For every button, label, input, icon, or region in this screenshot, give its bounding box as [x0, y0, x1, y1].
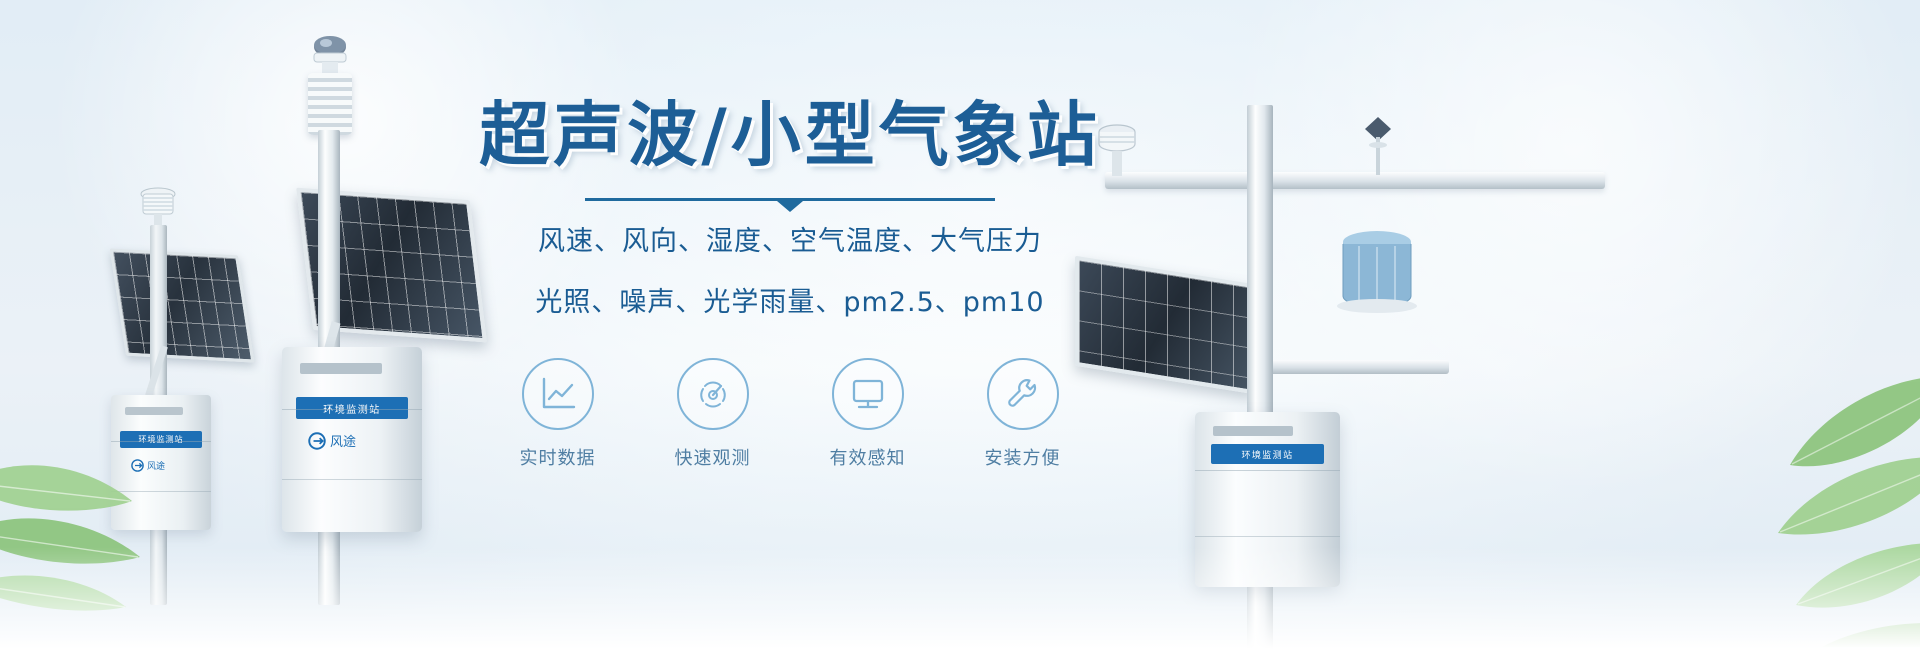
brand-logo: 风途 — [308, 431, 356, 450]
line-chart-icon — [522, 358, 594, 430]
cabinet-seam-lower — [282, 479, 422, 480]
cabinet-name-plate: 环境监测站 — [296, 397, 408, 419]
multi-sensor-head-icon — [131, 185, 185, 229]
feature-item-fast-observation[interactable]: 快速观测 — [655, 358, 770, 470]
weather-station-right: 环境监测站 — [1075, 60, 1635, 660]
palm-leaf-decoration-right — [1640, 347, 1920, 647]
feature-label: 实时数据 — [500, 444, 615, 470]
brand-name: 风途 — [330, 431, 356, 450]
wrench-icon — [987, 358, 1059, 430]
divider-triangle-icon — [777, 201, 803, 212]
cabinet-vent — [300, 363, 382, 374]
radiation-shield — [308, 73, 352, 135]
lower-cross-arm — [1253, 360, 1449, 374]
feature-label: 有效感知 — [810, 444, 925, 470]
banner-text-block: 超声波/小型气象站 风速、风向、湿度、空气温度、大气压力 光照、噪声、光学雨量、… — [450, 95, 1130, 470]
cabinet-seam — [1195, 470, 1340, 471]
palm-leaf-decoration-left — [0, 397, 210, 627]
control-cabinet: 环境监测站 — [1195, 412, 1340, 587]
rain-gauge — [1329, 228, 1425, 328]
title-divider — [585, 198, 995, 201]
product-banner: 环境监测站 风途 环境监测站 — [0, 0, 1920, 667]
radar-scan-icon — [677, 358, 749, 430]
feature-label: 安装方便 — [965, 444, 1080, 470]
feature-item-realtime-data[interactable]: 实时数据 — [500, 358, 615, 470]
monitor-icon — [832, 358, 904, 430]
cabinet-seam — [282, 409, 422, 410]
feature-item-effective-sensing[interactable]: 有效感知 — [810, 358, 925, 470]
subtitle-line-1: 风速、风向、湿度、空气温度、大气压力 — [450, 221, 1130, 263]
solar-panel — [110, 248, 255, 362]
feature-label: 快速观测 — [655, 444, 770, 470]
cabinet-vent — [1213, 426, 1293, 436]
ultrasonic-wind-sensor-icon — [302, 35, 358, 75]
subtitle-line-2: 光照、噪声、光学雨量、pm2.5、pm10 — [450, 282, 1130, 324]
page-title: 超声波/小型气象站 — [450, 95, 1130, 176]
cross-arm — [1105, 172, 1605, 189]
brand-mark-icon — [308, 432, 326, 450]
wind-vane-icon — [1357, 115, 1399, 175]
feature-list: 实时数据 快速观测 — [450, 358, 1130, 470]
cabinet-seam-lower — [1195, 536, 1340, 537]
cabinet-name-plate: 环境监测站 — [1211, 444, 1324, 464]
control-cabinet: 环境监测站 风途 — [282, 347, 422, 532]
feature-item-easy-installation[interactable]: 安装方便 — [965, 358, 1080, 470]
